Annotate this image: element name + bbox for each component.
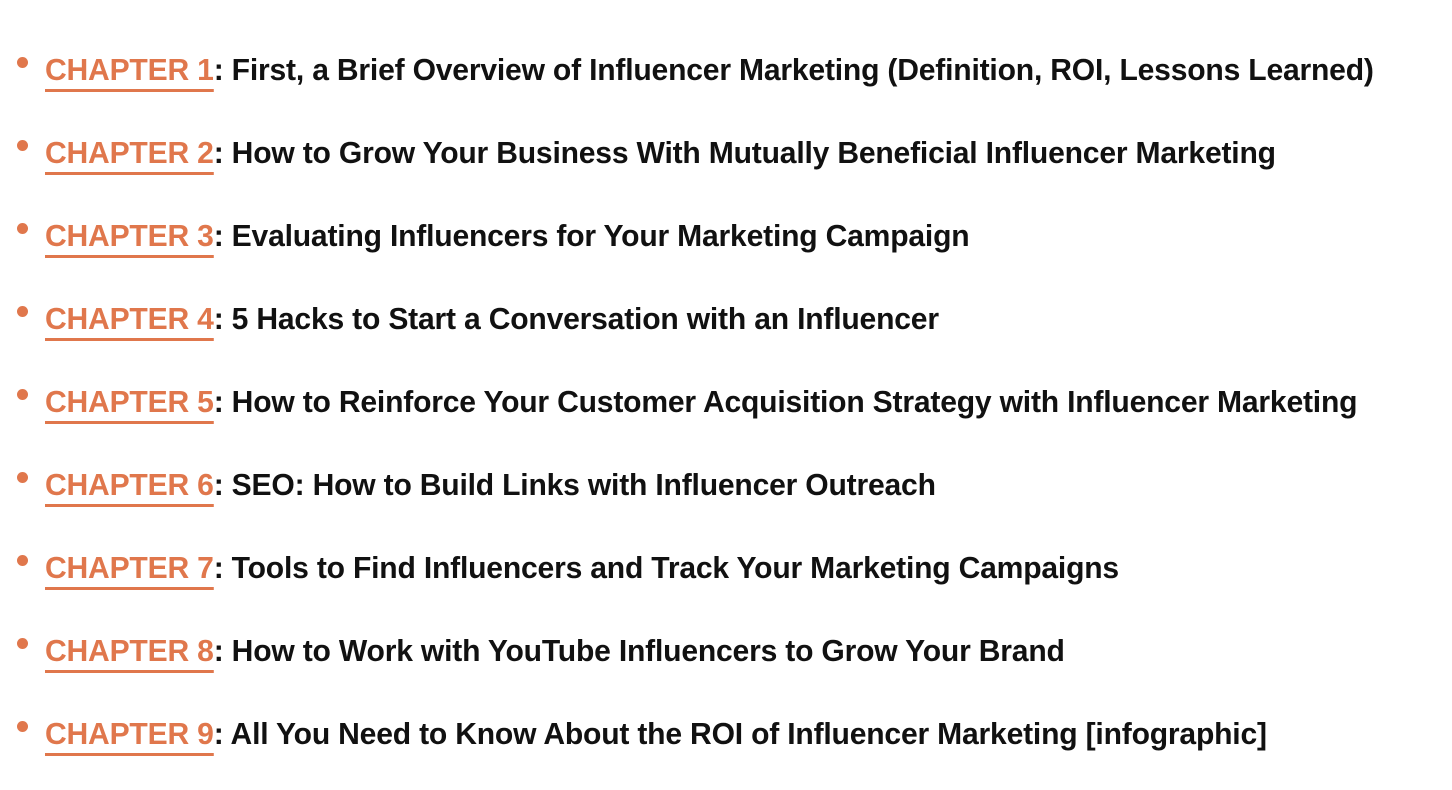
bullet-dot-icon <box>17 57 28 68</box>
chapter-line: CHAPTER 3: Evaluating Influencers for Yo… <box>45 220 969 251</box>
chapter-separator: : <box>214 384 232 419</box>
bullet-dot-icon <box>17 472 28 483</box>
chapter-line: CHAPTER 1: First, a Brief Overview of In… <box>45 54 1374 85</box>
chapter-title: First, a Brief Overview of Influencer Ma… <box>232 52 1374 87</box>
chapter-title: How to Grow Your Business With Mutually … <box>232 135 1276 170</box>
list-item: CHAPTER 1: First, a Brief Overview of In… <box>0 28 1452 111</box>
chapter-link[interactable]: CHAPTER 3 <box>45 218 214 258</box>
chapter-separator: : <box>214 218 232 253</box>
bullet-dot-icon <box>17 306 28 317</box>
chapter-line: CHAPTER 8: How to Work with YouTube Infl… <box>45 635 1065 666</box>
list-item: CHAPTER 9: All You Need to Know About th… <box>0 692 1452 775</box>
chapter-link[interactable]: CHAPTER 4 <box>45 301 214 341</box>
chapter-title: How to Reinforce Your Customer Acquisiti… <box>232 384 1358 419</box>
chapter-link[interactable]: CHAPTER 9 <box>45 716 214 756</box>
bullet-dot-icon <box>17 389 28 400</box>
chapter-title: 5 Hacks to Start a Conversation with an … <box>232 301 939 336</box>
chapter-separator: : <box>214 467 232 502</box>
chapter-link[interactable]: CHAPTER 5 <box>45 384 214 424</box>
chapter-separator: : <box>214 633 232 668</box>
chapter-line: CHAPTER 4: 5 Hacks to Start a Conversati… <box>45 303 939 334</box>
list-item: CHAPTER 3: Evaluating Influencers for Yo… <box>0 194 1452 277</box>
chapter-separator: : <box>214 135 232 170</box>
chapter-link[interactable]: CHAPTER 7 <box>45 550 214 590</box>
chapter-separator: : <box>214 301 232 336</box>
chapter-link[interactable]: CHAPTER 8 <box>45 633 214 673</box>
list-item: CHAPTER 2: How to Grow Your Business Wit… <box>0 111 1452 194</box>
list-item: CHAPTER 5: How to Reinforce Your Custome… <box>0 360 1452 443</box>
bullet-dot-icon <box>17 721 28 732</box>
chapter-separator: : <box>214 52 232 87</box>
chapter-title: SEO: How to Build Links with Influencer … <box>232 467 936 502</box>
chapter-line: CHAPTER 6: SEO: How to Build Links with … <box>45 469 936 500</box>
bullet-dot-icon <box>17 638 28 649</box>
chapter-link[interactable]: CHAPTER 2 <box>45 135 214 175</box>
bullet-dot-icon <box>17 140 28 151</box>
chapter-title: Evaluating Influencers for Your Marketin… <box>232 218 970 253</box>
chapter-link[interactable]: CHAPTER 1 <box>45 52 214 92</box>
chapter-line: CHAPTER 5: How to Reinforce Your Custome… <box>45 386 1357 417</box>
list-item: CHAPTER 4: 5 Hacks to Start a Conversati… <box>0 277 1452 360</box>
chapter-title: All You Need to Know About the ROI of In… <box>231 716 1267 751</box>
list-item: CHAPTER 6: SEO: How to Build Links with … <box>0 443 1452 526</box>
list-item: CHAPTER 7: Tools to Find Influencers and… <box>0 526 1452 609</box>
chapter-separator: : <box>214 550 232 585</box>
chapter-list: CHAPTER 1: First, a Brief Overview of In… <box>0 28 1452 775</box>
chapter-line: CHAPTER 9: All You Need to Know About th… <box>45 718 1267 749</box>
chapter-line: CHAPTER 7: Tools to Find Influencers and… <box>45 552 1119 583</box>
chapter-title: How to Work with YouTube Influencers to … <box>232 633 1065 668</box>
chapter-link[interactable]: CHAPTER 6 <box>45 467 214 507</box>
chapter-separator: : <box>214 716 231 751</box>
chapter-title: Tools to Find Influencers and Track Your… <box>232 550 1119 585</box>
bullet-dot-icon <box>17 555 28 566</box>
chapter-line: CHAPTER 2: How to Grow Your Business Wit… <box>45 137 1276 168</box>
list-item: CHAPTER 8: How to Work with YouTube Infl… <box>0 609 1452 692</box>
bullet-dot-icon <box>17 223 28 234</box>
